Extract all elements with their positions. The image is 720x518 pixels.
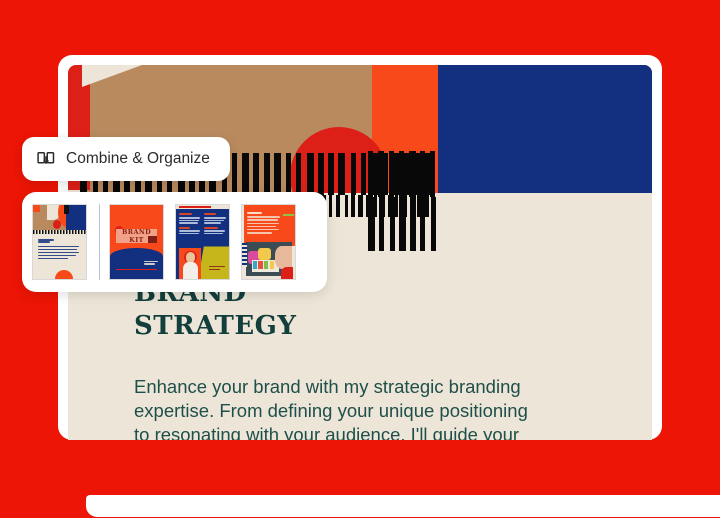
page-thumbnail-1[interactable] [32,204,87,280]
page-thumbnail-2[interactable]: BRAND KIT [109,204,164,280]
combine-and-organize-label: Combine & Organize [66,150,210,168]
combine-and-organize-button[interactable]: Combine & Organize [22,137,230,181]
thumbnail-2-title: BRAND KIT [117,228,156,244]
barcode-stripes-b-lower [368,197,436,251]
document-body-line-2: expertise. From defining your unique pos… [134,399,574,423]
laptop-base [86,495,720,517]
document-heading-line-2: STRATEGY [134,313,554,339]
combine-documents-icon [36,149,56,169]
document-body-line-3: to resonating with your audience, I'll g… [134,423,574,440]
page-thumbnail-panel[interactable]: BRAND KIT [22,192,327,292]
page-thumbnail-3[interactable] [175,204,230,280]
thumbnail-divider [99,204,100,280]
document-body-line-1: Enhance your brand with my strategic bra… [134,375,574,399]
page-thumbnail-4[interactable] [241,204,296,280]
document-body-text: Enhance your brand with my strategic bra… [134,375,574,440]
blue-band [438,65,652,193]
barcode-stripes-b-upper [368,151,436,197]
